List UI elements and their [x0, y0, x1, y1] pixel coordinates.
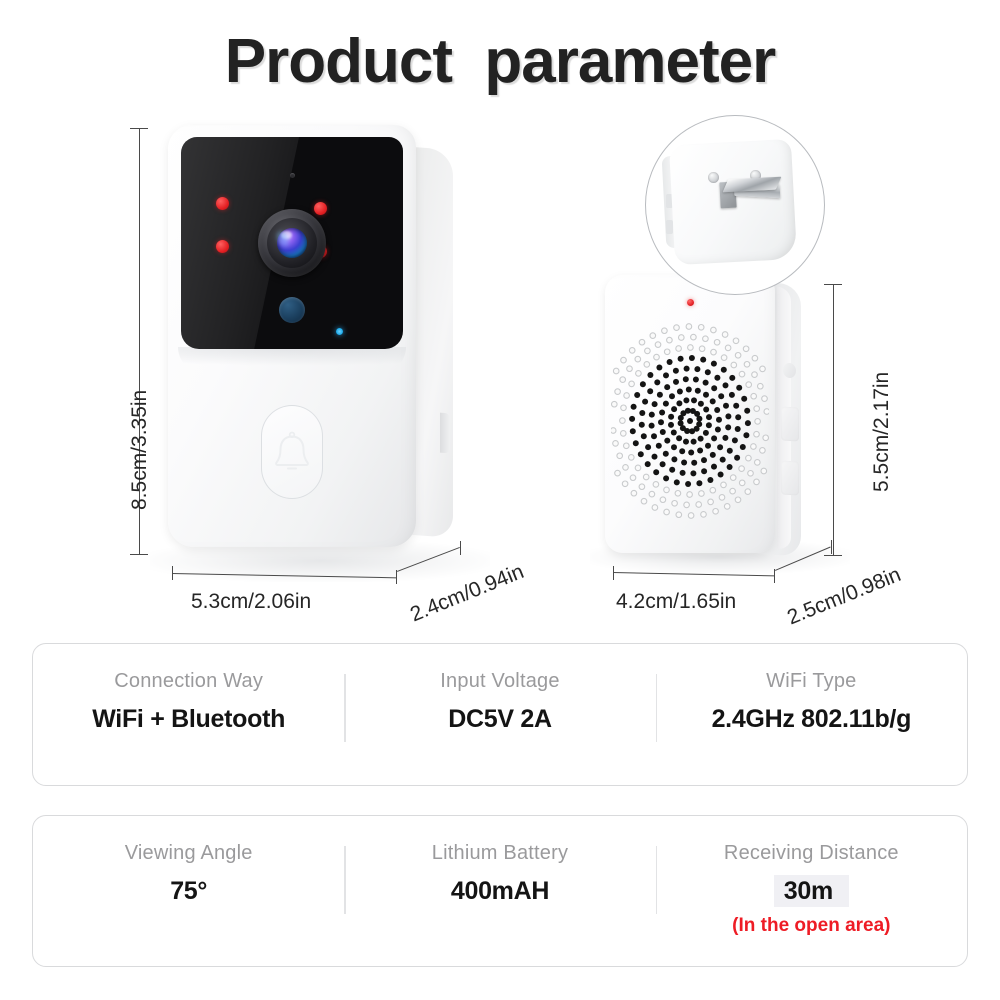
spec-cell-input-voltage: Input Voltage DC5V 2A [344, 670, 655, 734]
spec-cell-connection-way: Connection Way WiFi + Bluetooth [33, 670, 344, 734]
chime-volume-dial-button[interactable] [783, 363, 796, 379]
product-illustration-stage: 8.5cm/3.35in 5.3cm/2.06in 2.4cm/0.94in 5… [0, 100, 1000, 620]
spec-row: Connection Way WiFi + Bluetooth Input Vo… [33, 644, 967, 785]
ir-led-icon [216, 240, 229, 253]
plug-screw-icon [708, 172, 719, 183]
spec-value: 2.4GHz 802.11b/g [666, 705, 957, 734]
chime-width-dimension-line [613, 572, 775, 577]
spec-label: Receiving Distance [666, 842, 957, 865]
status-led-icon [336, 328, 343, 335]
dimension-cap [130, 554, 148, 555]
ir-led-icon [314, 202, 327, 215]
spec-label: Input Voltage [354, 670, 645, 693]
camera-lens-icon [258, 209, 326, 277]
page-title: Product parameter [0, 26, 1000, 97]
doorbell-side-notch [440, 413, 450, 454]
dimension-cap [831, 540, 832, 554]
spec-value: 30m [666, 877, 957, 906]
dimension-cap [613, 566, 614, 580]
dimension-cap [460, 541, 461, 555]
dimension-cap [172, 566, 173, 580]
chime-side-button-1[interactable] [781, 407, 799, 442]
chime-body [605, 275, 775, 553]
dimension-cap [824, 284, 842, 285]
doorbell-seam [178, 347, 406, 373]
doorbell-body [168, 125, 416, 547]
spec-label: Viewing Angle [43, 842, 334, 865]
spec-label: Lithium Battery [354, 842, 645, 865]
dimension-cap [824, 555, 842, 556]
spec-cell-wifi-type: WiFi Type 2.4GHz 802.11b/g [656, 670, 967, 734]
spec-cell-lithium-battery: Lithium Battery 400mAH [344, 842, 655, 906]
pir-motion-sensor-icon [279, 297, 305, 323]
wireless-chime-product [605, 275, 855, 565]
microphone-icon [290, 173, 295, 178]
dimension-cap [130, 128, 148, 129]
spec-value: DC5V 2A [354, 705, 645, 734]
spec-value: 75° [43, 877, 334, 906]
plug-detail-inset [645, 115, 825, 295]
spec-note: (In the open area) [666, 915, 957, 937]
chime-height-dimension-line [833, 284, 834, 556]
spec-row: Viewing Angle 75° Lithium Battery 400mAH… [33, 816, 967, 966]
doorbell-depth-label: 2.4cm/0.94in [407, 560, 527, 627]
doorbell-width-label: 5.3cm/2.06in [191, 590, 311, 614]
spec-label: WiFi Type [666, 670, 957, 693]
spec-label: Connection Way [43, 670, 334, 693]
chime-height-label: 5.5cm/2.17in [870, 372, 894, 492]
doorbell-push-button[interactable] [261, 405, 323, 499]
speaker-grille-icon [611, 321, 769, 521]
spec-card-row-1: Connection Way WiFi + Bluetooth Input Vo… [32, 643, 968, 786]
spec-card-row-2: Viewing Angle 75° Lithium Battery 400mAH… [32, 815, 968, 967]
chime-status-led-icon [687, 299, 694, 306]
chime-side-button-2[interactable] [781, 461, 799, 496]
plug-housing-notch [666, 220, 673, 234]
chime-depth-label: 2.5cm/0.98in [784, 563, 904, 630]
ir-led-icon [216, 197, 229, 210]
chime-width-label: 4.2cm/1.65in [616, 590, 736, 614]
spec-cell-viewing-angle: Viewing Angle 75° [33, 842, 344, 906]
doorbell-camera-faceplate [181, 137, 403, 349]
doorbell-height-label: 8.5cm/3.35in [128, 390, 152, 510]
bell-icon [272, 430, 312, 474]
video-doorbell-product [168, 125, 458, 555]
spec-value: 400mAH [354, 877, 645, 906]
spec-value: WiFi + Bluetooth [43, 705, 334, 734]
spec-cell-receiving-distance: Receiving Distance 30m (In the open area… [656, 842, 967, 937]
spec-value-highlight: 30m [774, 875, 849, 907]
doorbell-width-dimension-line [172, 573, 397, 579]
lens-ring [267, 218, 317, 268]
